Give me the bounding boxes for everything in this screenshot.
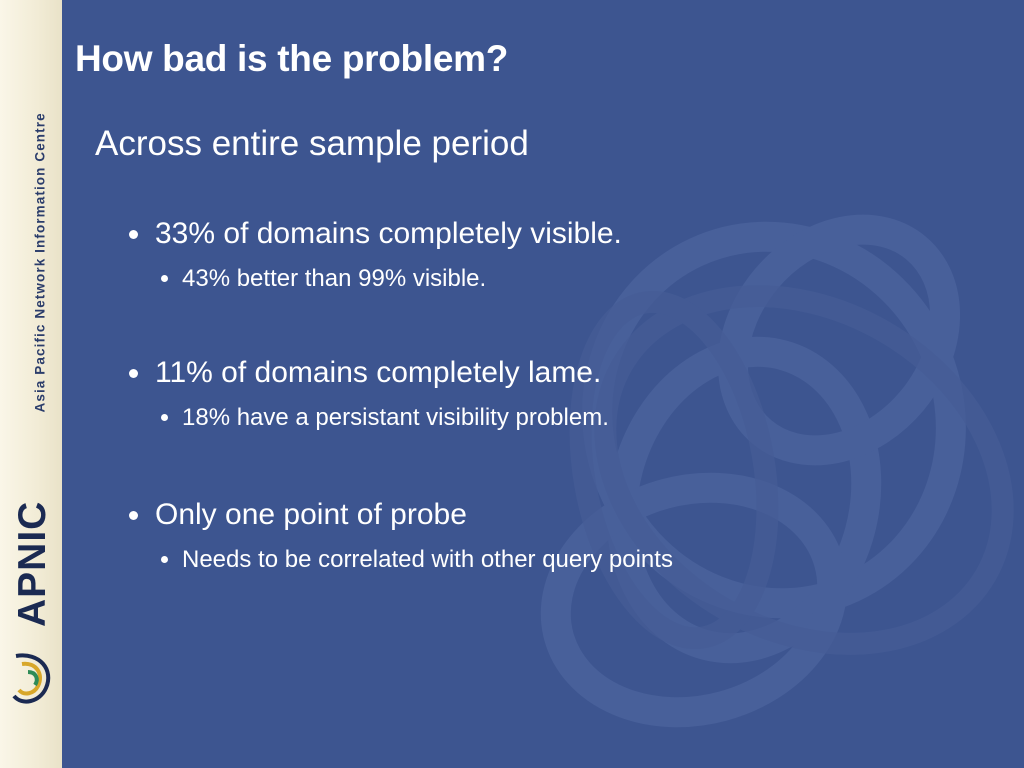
- slide-content: How bad is the problem? Across entire sa…: [62, 0, 1024, 768]
- sidebar-brand-strip: Asia Pacific Network Information Centre …: [0, 0, 62, 768]
- slide-title: How bad is the problem?: [75, 38, 508, 80]
- bullet-level2: Needs to be correlated with other query …: [62, 544, 1024, 575]
- bullet-group: Only one point of probe Needs to be corr…: [62, 496, 1024, 575]
- slide-subtitle: Across entire sample period: [95, 124, 529, 164]
- bullet-level2-text: Needs to be correlated with other query …: [182, 546, 673, 573]
- sidebar-vertical-text: Asia Pacific Network Information Centre: [33, 0, 48, 413]
- bullet-group: 11% of domains completely lame. 18% have…: [62, 354, 1024, 433]
- bullet-level2-text: 18% have a persistant visibility problem…: [182, 404, 609, 431]
- bullet-dot-icon: [129, 230, 138, 239]
- bullet-dot-icon: [129, 511, 138, 520]
- sub-bullet-dot-icon: [161, 414, 168, 421]
- bullet-level2-text: 43% better than 99% visible.: [182, 265, 486, 292]
- bullet-level2: 43% better than 99% visible.: [62, 263, 1024, 294]
- presentation-slide: Asia Pacific Network Information Centre …: [0, 0, 1024, 768]
- bullet-level1: Only one point of probe: [62, 496, 1024, 534]
- bullet-group: 33% of domains completely visible. 43% b…: [62, 215, 1024, 294]
- bullet-list: 33% of domains completely visible. 43% b…: [62, 215, 1024, 597]
- bullet-level1: 11% of domains completely lame.: [62, 354, 1024, 392]
- bullet-level2: 18% have a persistant visibility problem…: [62, 402, 1024, 433]
- sub-bullet-dot-icon: [161, 275, 168, 282]
- bullet-level1: 33% of domains completely visible.: [62, 215, 1024, 253]
- bullet-dot-icon: [129, 369, 138, 378]
- bullet-level1-text: 11% of domains completely lame.: [155, 356, 601, 389]
- bullet-level1-text: Only one point of probe: [155, 498, 467, 531]
- apnic-logo-icon: [6, 648, 58, 710]
- sub-bullet-dot-icon: [161, 556, 168, 563]
- sidebar-brand-name: APNIC: [11, 507, 55, 627]
- bullet-level1-text: 33% of domains completely visible.: [155, 217, 622, 250]
